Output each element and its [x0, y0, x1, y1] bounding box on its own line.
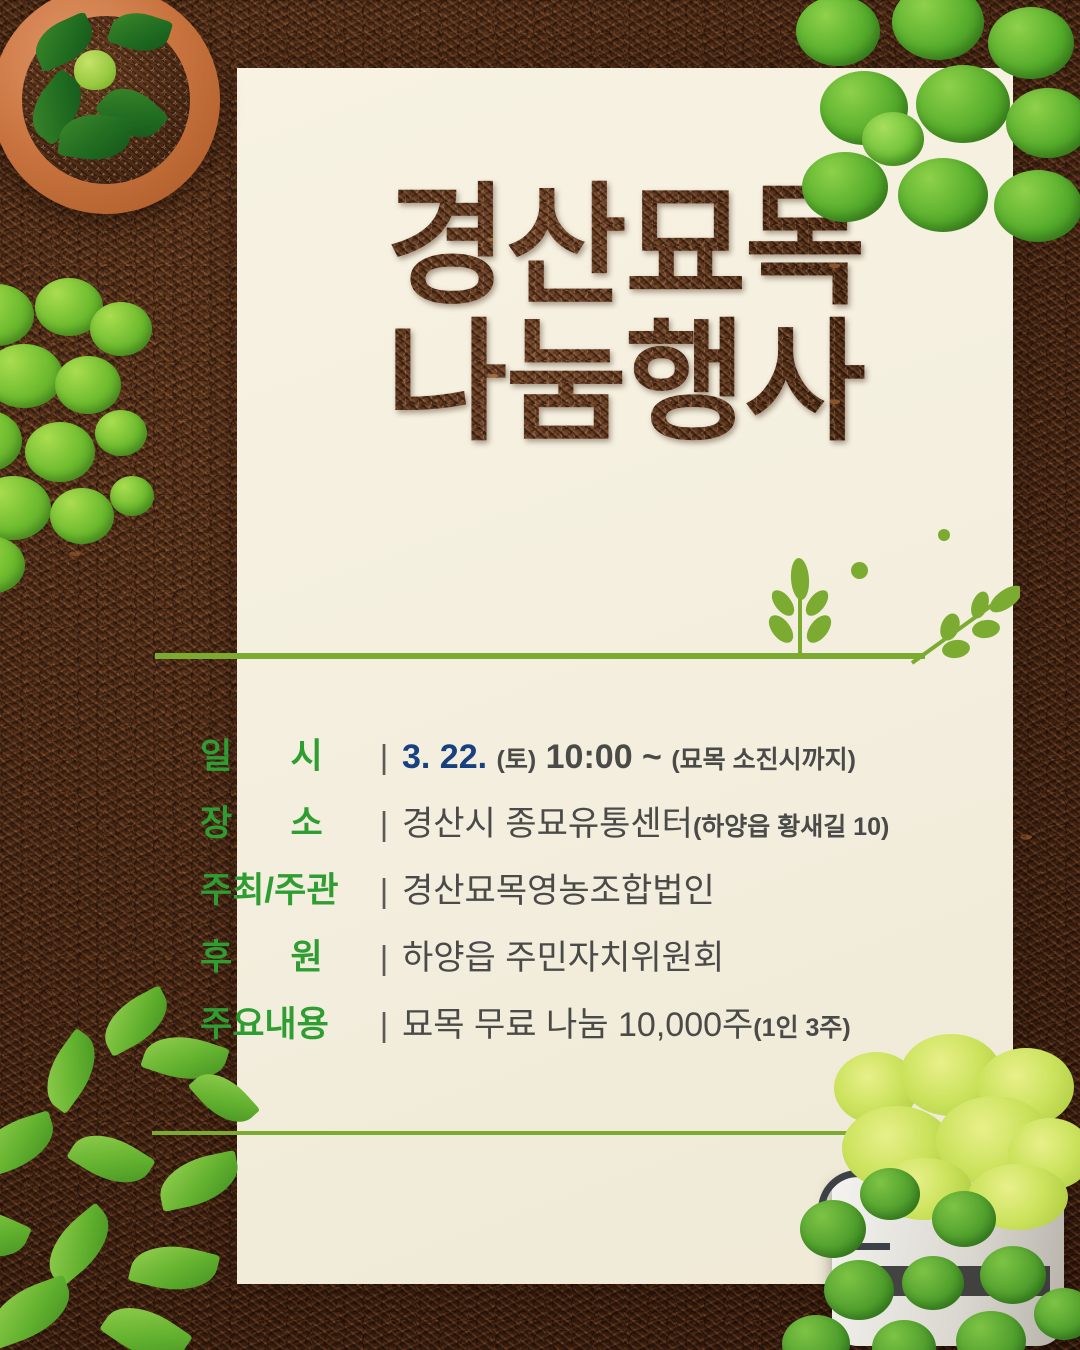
- info-row-sponsor: 후 원 | 하양읍 주민자치위원회: [200, 929, 960, 996]
- info-separator: |: [366, 738, 402, 776]
- info-value-details: 묘목 무료 나눔 10,000주(1인 3주): [402, 997, 851, 1046]
- info-label-venue: 장 소: [200, 795, 366, 846]
- info-row-details: 주요내용 | 묘목 무료 나눔 10,000주(1인 3주): [200, 996, 960, 1063]
- info-row-datetime: 일 시 | 3. 22. (토) 10:00 ~ (묘목 소진시까지): [200, 728, 960, 795]
- value-venue-address: (하양읍 황새길 10): [693, 813, 889, 841]
- dot-a-icon: [851, 562, 868, 579]
- event-info-list: 일 시 | 3. 22. (토) 10:00 ~ (묘목 소진시까지) 장 소 …: [200, 728, 960, 1063]
- info-value-datetime: 3. 22. (토) 10:00 ~ (묘목 소진시까지): [402, 738, 856, 777]
- value-date: 3. 22.: [402, 738, 487, 776]
- divider-bottom: [152, 1131, 925, 1135]
- value-sponsor: 하양읍 주민자치위원회: [402, 939, 724, 977]
- sprig-right-icon: [910, 585, 1020, 665]
- info-value-organizer: 경산묘목영농조합법인: [402, 863, 715, 912]
- info-value-venue: 경산시 종묘유통센터(하양읍 황새길 10): [402, 796, 889, 845]
- info-separator: |: [366, 939, 402, 977]
- content-card: [237, 68, 1013, 1284]
- poster-root: 경산묘목 나눔행사 일 시 | 3. 22. (토) 10:00 ~: [0, 0, 1080, 1350]
- info-separator: |: [366, 805, 402, 843]
- info-label-organizer: 주최/주관: [200, 862, 366, 913]
- info-separator: |: [366, 872, 402, 910]
- value-details: 묘목 무료 나눔 10,000주: [402, 1006, 753, 1044]
- value-time-note: (묘목 소진시까지): [671, 746, 856, 774]
- value-details-note: (1인 3주): [753, 1014, 850, 1042]
- value-weekday: (토): [497, 746, 537, 774]
- sprig-left-icon: [765, 555, 835, 655]
- info-label-details: 주요내용: [200, 996, 366, 1047]
- dot-b-icon: [938, 529, 950, 541]
- info-value-sponsor: 하양읍 주민자치위원회: [402, 930, 724, 979]
- info-label-datetime: 일 시: [200, 728, 366, 779]
- info-label-sponsor: 후 원: [200, 929, 366, 980]
- info-row-organizer: 주최/주관 | 경산묘목영농조합법인: [200, 862, 960, 929]
- value-time: 10:00 ~: [546, 738, 662, 776]
- value-organizer: 경산묘목영농조합법인: [402, 872, 715, 910]
- info-row-venue: 장 소 | 경산시 종묘유통센터(하양읍 황새길 10): [200, 795, 960, 862]
- value-venue-name: 경산시 종묘유통센터: [402, 805, 693, 843]
- info-separator: |: [366, 1006, 402, 1044]
